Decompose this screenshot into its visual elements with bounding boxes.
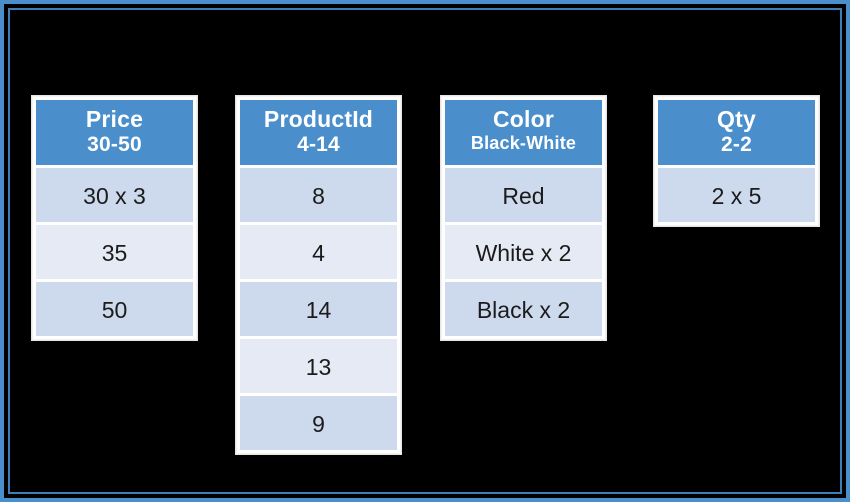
table-subtitle-price: 30-50 (40, 133, 189, 157)
slide-canvas: Price30-5030 x 33550ProductId4-148414139… (0, 0, 850, 502)
table-subtitle-productid: 4-14 (244, 133, 393, 157)
table-header-color: ColorBlack-White (445, 100, 602, 165)
table-title-color: Color (449, 107, 598, 133)
table-card-color[interactable]: ColorBlack-WhiteRedWhite x 2Black x 2 (441, 96, 606, 340)
table-row[interactable]: 9 (240, 393, 397, 450)
table-row[interactable]: 4 (240, 222, 397, 279)
table-subtitle-qty: 2-2 (662, 133, 811, 157)
table-header-qty: Qty2-2 (658, 100, 815, 165)
tables-board: Price30-5030 x 33550ProductId4-148414139… (4, 4, 850, 502)
table-card-qty[interactable]: Qty2-22 x 5 (654, 96, 819, 226)
table-header-productid: ProductId4-14 (240, 100, 397, 165)
table-title-qty: Qty (662, 107, 811, 133)
table-row[interactable]: Black x 2 (445, 279, 602, 336)
table-row[interactable]: 8 (240, 165, 397, 222)
table-row[interactable]: 14 (240, 279, 397, 336)
table-subtitle-color: Black-White (449, 133, 598, 153)
table-header-price: Price30-50 (36, 100, 193, 165)
table-row[interactable]: White x 2 (445, 222, 602, 279)
table-row[interactable]: 35 (36, 222, 193, 279)
table-title-price: Price (40, 107, 189, 133)
table-card-price[interactable]: Price30-5030 x 33550 (32, 96, 197, 340)
table-row[interactable]: 2 x 5 (658, 165, 815, 222)
table-title-productid: ProductId (244, 107, 393, 133)
table-card-productid[interactable]: ProductId4-148414139 (236, 96, 401, 454)
table-row[interactable]: Red (445, 165, 602, 222)
table-row[interactable]: 30 x 3 (36, 165, 193, 222)
table-row[interactable]: 13 (240, 336, 397, 393)
table-row[interactable]: 50 (36, 279, 193, 336)
